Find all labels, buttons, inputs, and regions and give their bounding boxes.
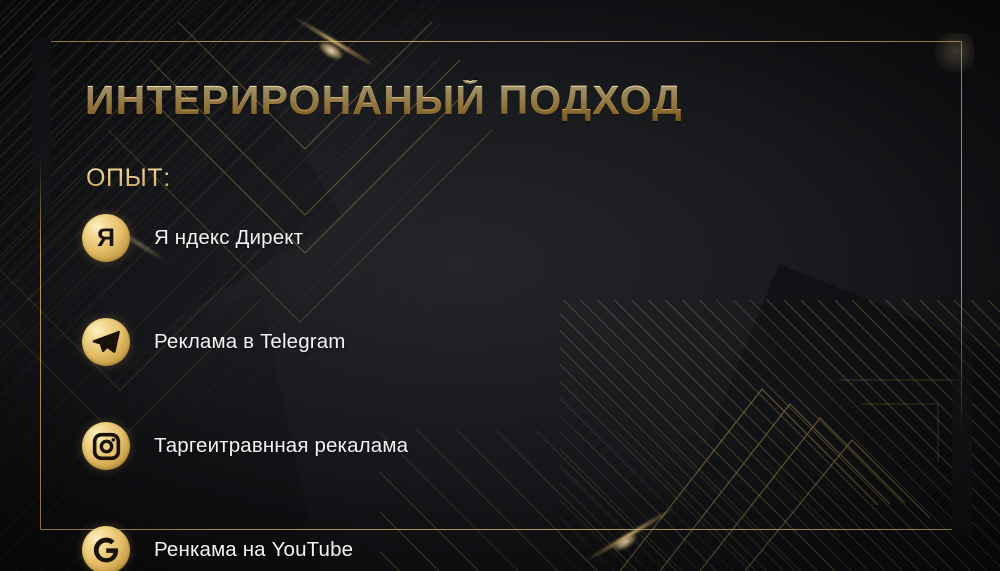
list-item: Ренкама на YouTube [82,524,702,571]
list-item-label: Реклама в Telegram [154,330,346,354]
telegram-icon [82,318,130,366]
list-item-label: Таргеитравнная рекалама [154,434,408,458]
list-item-label: Я ндекс Директ [154,226,303,250]
yandex-icon: Я [82,214,130,262]
list-item: Таргеитравнная рекалама [82,420,702,472]
slide-subtitle: ОПЫТ: [86,164,171,193]
slide-title: ИНТЕРИРОНАНЫЙ ПОДХОД [85,80,683,121]
list-item: Я Я ндекс Директ [82,212,702,264]
list-item-label: Ренкама на YouTube [154,538,353,562]
google-icon [82,526,130,571]
experience-list: Я Я ндекс Директ Реклама в Telegram [82,212,702,571]
slide-content: ИНТЕРИРОНАНЫЙ ПОДХОД ОПЫТ: Я Я ндекс Дир… [0,0,1000,571]
instagram-icon [82,422,130,470]
list-item: Реклама в Telegram [82,316,702,368]
svg-text:Я: Я [97,224,115,252]
presentation-slide: ИНТЕРИРОНАНЫЙ ПОДХОД ОПЫТ: Я Я ндекс Дир… [0,0,1000,571]
